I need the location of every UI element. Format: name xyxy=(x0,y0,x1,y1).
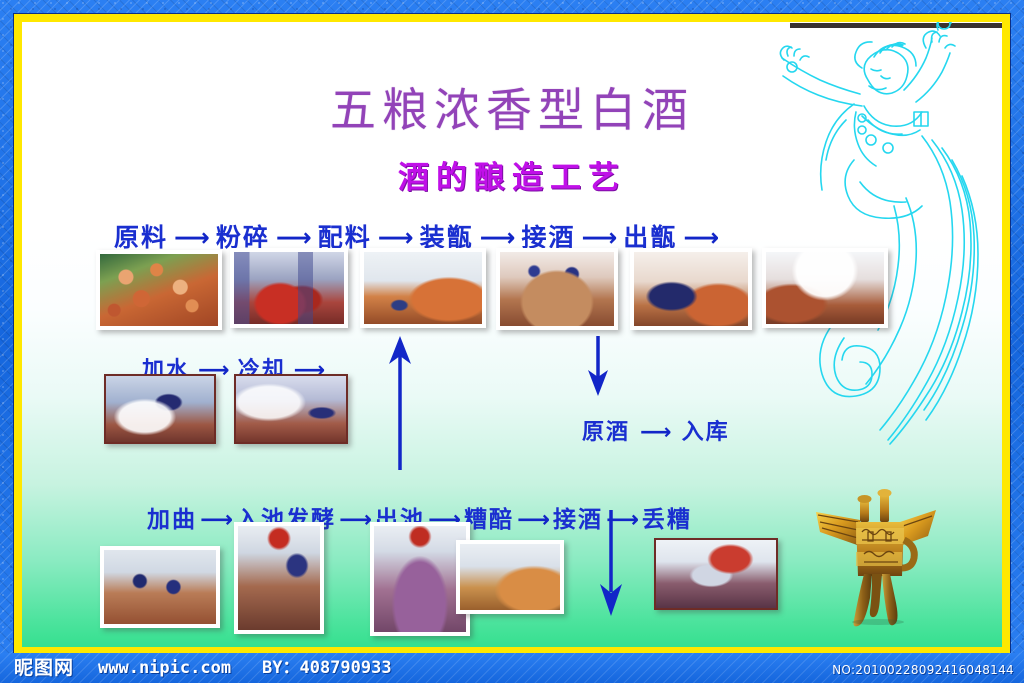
photo-jiashui xyxy=(104,374,216,444)
photo-chuchi xyxy=(370,522,470,636)
arrow-icon: ⟶ xyxy=(174,223,210,252)
poster-root: 五粮浓香型白酒 酒的酿造工艺 原料⟶粉碎⟶配料⟶装甑⟶接酒⟶出甑⟶ 加水⟶冷却⟶… xyxy=(0,0,1024,683)
flow-node-jiaqu: 加曲 xyxy=(147,500,197,534)
photo-image xyxy=(656,540,776,608)
arrow-icon: ⟶ xyxy=(200,507,233,533)
photo-yuanliao xyxy=(96,250,222,330)
photo-zhuangzeng xyxy=(496,248,618,330)
photo-zaopei xyxy=(456,540,564,614)
photo-image xyxy=(500,252,614,326)
photo-jiejiu xyxy=(630,248,752,330)
bronze-jue-vessel-icon xyxy=(808,488,948,628)
arrow-down-from-jiejiu-icon xyxy=(594,508,628,620)
photo-ruchifajiao xyxy=(234,522,324,634)
photo-image xyxy=(106,376,214,442)
flow-node-yuanliao: 原料 xyxy=(114,218,168,254)
top-dark-bar xyxy=(790,23,1002,28)
photo-lengque xyxy=(234,374,348,444)
photo-image xyxy=(364,252,482,324)
arrow-icon: ⟶ xyxy=(517,507,550,533)
watermark-bar: 昵图网 www.nipic.com BY：408790933 NO:201002… xyxy=(0,653,1024,683)
photo-image xyxy=(234,252,344,324)
photo-image xyxy=(100,254,218,326)
nipic-url: www.nipic.com xyxy=(98,658,231,678)
arrow-icon: ⟶ xyxy=(640,420,672,445)
flow-node-yuanjiu: 原酒 xyxy=(582,414,630,446)
arrow-up-to-peiliao-icon xyxy=(382,332,418,472)
page-title: 五粮浓香型白酒 xyxy=(22,74,1002,140)
photo-chuzeng xyxy=(762,248,888,328)
flow-node-zaopei: 糟醅 xyxy=(464,500,514,534)
photo-image xyxy=(634,252,748,326)
photo-fensui xyxy=(230,248,348,328)
photo-image xyxy=(460,544,560,610)
flow-node-ruku: 入库 xyxy=(682,414,730,446)
photo-image xyxy=(104,550,216,624)
photo-image xyxy=(236,376,346,442)
nipic-author: BY：408790933 xyxy=(262,653,392,678)
photo-image xyxy=(374,526,466,632)
flow-row-mid: 原酒⟶入库 xyxy=(582,414,730,446)
arrow-down-to-yuanjiu-icon xyxy=(581,334,615,400)
poster-canvas: 五粮浓香型白酒 酒的酿造工艺 原料⟶粉碎⟶配料⟶装甑⟶接酒⟶出甑⟶ 加水⟶冷却⟶… xyxy=(22,22,1002,647)
nipic-logo: 昵图网 xyxy=(14,653,74,680)
photo-diuzao xyxy=(654,538,778,610)
page-subtitle: 酒的酿造工艺 xyxy=(22,152,1002,197)
nipic-asset-number: NO:20100228092416048144 xyxy=(832,663,1014,677)
photo-jiaqu xyxy=(100,546,220,628)
photo-peiliao xyxy=(360,248,486,328)
photo-image xyxy=(238,526,320,630)
arrow-icon: ⟶ xyxy=(339,507,372,533)
photo-image xyxy=(766,252,884,324)
flow-node-diuzao: 丢糟 xyxy=(642,500,692,534)
